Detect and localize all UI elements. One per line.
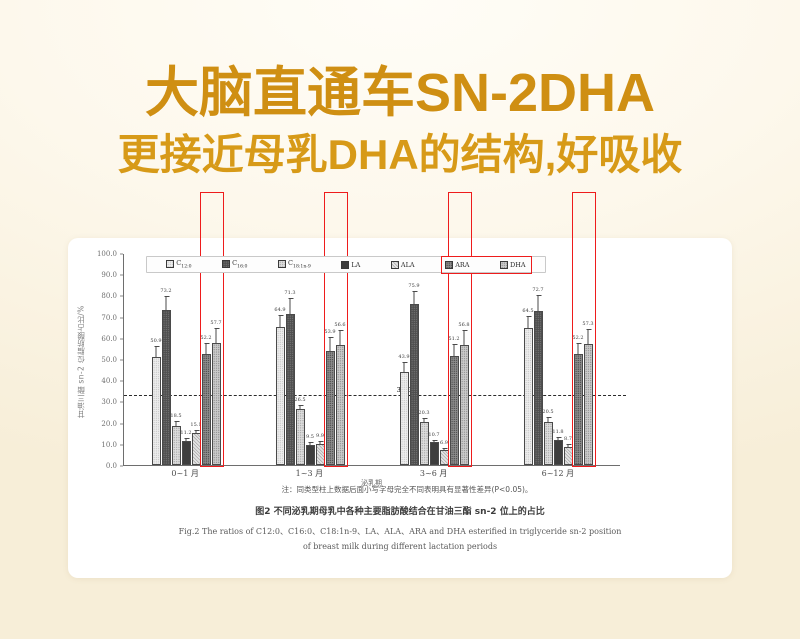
- legend-label: C16:0: [232, 259, 247, 269]
- error-bar: [176, 421, 177, 426]
- bar-C120-13: 64.9: [276, 327, 285, 465]
- plot-area: 0.010.020.030.040.050.060.070.080.090.01…: [90, 254, 620, 466]
- bar-value-label: 72.7: [532, 288, 543, 293]
- bar-ARA-13: 53.9: [326, 351, 335, 465]
- error-bar: [196, 430, 197, 434]
- bar-value-label: 18.5: [170, 414, 181, 419]
- y-tick-label: 10.0: [101, 441, 117, 449]
- bar-LA-612: 11.8: [554, 440, 563, 465]
- bar-value-label: 57.7: [210, 321, 221, 326]
- bar-value-label: 20.3: [418, 411, 429, 416]
- error-bar: [186, 438, 187, 442]
- bar-value-label: 11.8: [552, 430, 563, 435]
- bar-C181n-9-01: 18.5: [172, 426, 181, 465]
- chart-legend: C12:0C16:0C18:1n-9LAALAARADHA: [146, 256, 546, 273]
- bar-group: 64.572.720.511.88.752.257.3: [496, 254, 620, 465]
- error-bar: [454, 344, 455, 358]
- error-bar: [588, 329, 589, 345]
- chart-figure: 甘油三酯 sn-2 位脂肪酸占比/% 0.010.020.030.040.050…: [68, 238, 732, 578]
- legend-label: DHA: [510, 261, 526, 269]
- error-bar: [300, 405, 301, 410]
- error-bar: [156, 346, 157, 358]
- error-bar: [444, 448, 445, 451]
- bar-ALA-13: 9.9: [316, 444, 325, 465]
- figure-note: 注：同类型柱上数据后面小写字母完全不同表明具有显著性差异(P<0.05)。: [102, 484, 712, 495]
- bar-C181n-9-13: 26.5: [296, 409, 305, 465]
- legend-swatch-icon: [445, 261, 453, 269]
- legend-swatch-icon: [278, 260, 286, 268]
- bar-C181n-9-612: 20.5: [544, 422, 553, 465]
- error-bar: [404, 362, 405, 373]
- error-bar: [310, 442, 311, 446]
- bar-C160-01: 73.2: [162, 310, 171, 465]
- bar-LA-36: 10.7: [430, 442, 439, 465]
- y-tick-label: 40.0: [101, 377, 117, 385]
- bar-value-label: 75.9: [408, 284, 419, 289]
- bar-value-label: 10.7: [428, 433, 439, 438]
- bar-LA-01: 11.2: [182, 441, 191, 465]
- bar-value-label: 50.9: [150, 339, 161, 344]
- bar-ALA-01: 15.1: [192, 433, 201, 465]
- y-tick-label: 80.0: [101, 292, 117, 300]
- y-tick-label: 60.0: [101, 335, 117, 343]
- legend-swatch-icon: [391, 261, 399, 269]
- legend-item-ARA: ARA: [445, 261, 469, 269]
- error-bar: [568, 444, 569, 448]
- legend-item-C120: C12:0: [166, 259, 191, 269]
- error-bar: [414, 291, 415, 305]
- bar-DHA-13: 56.6: [336, 345, 345, 465]
- legend-label: ARA: [455, 261, 469, 269]
- y-tick-label: 50.0: [101, 356, 117, 364]
- bar-C160-612: 72.7: [534, 311, 543, 465]
- bar-value-label: 8.7: [564, 437, 572, 442]
- bar-value-label: 57.3: [582, 322, 593, 327]
- legend-label: C18:1n-9: [288, 259, 311, 269]
- headline-sub: 更接近母乳DHA的结构,好吸收: [0, 133, 800, 177]
- bar-ARA-01: 52.2: [202, 354, 211, 465]
- y-axis-ticks: 0.010.020.030.040.050.060.070.080.090.01…: [90, 254, 120, 466]
- error-bar: [424, 418, 425, 423]
- figure-caption-cn: 图2 不同泌乳期母乳中各种主要脂肪酸结合在甘油三酯 sn-2 位上的占比: [88, 504, 712, 517]
- bar-ARA-612: 52.2: [574, 354, 583, 465]
- y-tick-label: 20.0: [101, 420, 117, 428]
- plot-canvas: 33.3 50.973.218.511.215.152.257.764.971.…: [123, 254, 620, 466]
- bar-value-label: 11.2: [180, 431, 191, 436]
- bar-C181n-9-36: 20.3: [420, 422, 429, 465]
- error-bar: [216, 328, 217, 344]
- legend-label: LA: [351, 261, 360, 269]
- legend-item-LA: LA: [341, 261, 360, 269]
- legend-item-ALA: ALA: [391, 261, 415, 269]
- error-bar: [538, 295, 539, 312]
- legend-label: ALA: [401, 261, 415, 269]
- figure-caption-en-line1: Fig.2 The ratios of C12:0、C16:0、C18:1n-9…: [88, 526, 712, 537]
- error-bar: [340, 330, 341, 346]
- legend-item-C181n-9: C18:1n-9: [278, 259, 311, 269]
- bar-group: 50.973.218.511.215.152.257.7: [124, 254, 248, 465]
- error-bar: [528, 316, 529, 330]
- bar-ARA-36: 51.2: [450, 356, 459, 465]
- y-tick-label: 100.0: [97, 250, 117, 258]
- headline-main: 大脑直通车SN-2DHA: [0, 66, 800, 121]
- bar-C160-36: 75.9: [410, 304, 419, 465]
- error-bar: [290, 298, 291, 315]
- error-bar: [548, 417, 549, 422]
- legend-swatch-icon: [166, 260, 174, 268]
- bar-C120-612: 64.5: [524, 328, 533, 465]
- bar-DHA-01: 57.7: [212, 343, 221, 465]
- bar-value-label: 56.6: [334, 323, 345, 328]
- bar-group: 43.975.920.310.76.951.256.8: [372, 254, 496, 465]
- legend-label: C12:0: [176, 259, 191, 269]
- bar-ALA-612: 8.7: [564, 447, 573, 465]
- error-bar: [166, 296, 167, 311]
- bar-C120-36: 43.9: [400, 372, 409, 465]
- bar-value-label: 64.9: [274, 308, 285, 313]
- bar-value-label: 64.5: [522, 309, 533, 314]
- legend-swatch-icon: [341, 261, 349, 269]
- error-bar: [206, 343, 207, 356]
- bar-value-label: 52.2: [572, 336, 583, 341]
- bar-value-label: 53.9: [324, 330, 335, 335]
- bar-groups: 50.973.218.511.215.152.257.764.971.326.5…: [124, 254, 620, 465]
- error-bar: [280, 315, 281, 329]
- figure-card: 甘油三酯 sn-2 位脂肪酸占比/% 0.010.020.030.040.050…: [68, 238, 732, 578]
- error-bar: [320, 441, 321, 445]
- error-bar: [558, 437, 559, 441]
- legend-swatch-icon: [222, 260, 230, 268]
- y-axis-label: 甘油三酯 sn-2 位脂肪酸占比/%: [74, 262, 88, 462]
- bar-value-label: 26.5: [294, 398, 305, 403]
- figure-caption-en-line2: of breast milk during different lactatio…: [88, 542, 712, 551]
- bar-C160-13: 71.3: [286, 314, 295, 465]
- legend-item-C160: C16:0: [222, 259, 247, 269]
- bar-ALA-36: 6.9: [440, 450, 449, 465]
- y-tick-label: 30.0: [101, 398, 117, 406]
- bar-LA-13: 9.5: [306, 445, 315, 465]
- bar-value-label: 71.3: [284, 291, 295, 296]
- error-bar: [464, 330, 465, 346]
- y-tick-label: 90.0: [101, 271, 117, 279]
- bar-value-label: 6.9: [440, 441, 448, 446]
- promo-page: 大脑直通车SN-2DHA 更接近母乳DHA的结构,好吸收 甘油三酯 sn-2 位…: [0, 0, 800, 639]
- bar-value-label: 73.2: [160, 289, 171, 294]
- error-bar: [578, 343, 579, 356]
- bar-C120-01: 50.9: [152, 357, 161, 465]
- bar-value-label: 43.9: [398, 355, 409, 360]
- bar-value-label: 20.5: [542, 410, 553, 415]
- bar-value-label: 52.2: [200, 336, 211, 341]
- bar-DHA-612: 57.3: [584, 344, 593, 465]
- legend-swatch-icon: [500, 261, 508, 269]
- error-bar: [434, 440, 435, 444]
- bar-DHA-36: 56.8: [460, 345, 469, 465]
- bar-group: 64.971.326.59.59.953.956.6: [248, 254, 372, 465]
- bar-value-label: 51.2: [448, 337, 459, 342]
- y-tick-label: 70.0: [101, 314, 117, 322]
- headline-block: 大脑直通车SN-2DHA 更接近母乳DHA的结构,好吸收: [0, 66, 800, 177]
- bar-value-label: 9.5: [306, 435, 314, 440]
- bar-value-label: 15.1: [190, 423, 201, 428]
- y-tick-label: 0.0: [106, 462, 117, 470]
- bar-value-label: 56.8: [458, 323, 469, 328]
- bar-value-label: 9.9: [316, 434, 324, 439]
- legend-item-DHA: DHA: [500, 261, 526, 269]
- error-bar: [330, 337, 331, 352]
